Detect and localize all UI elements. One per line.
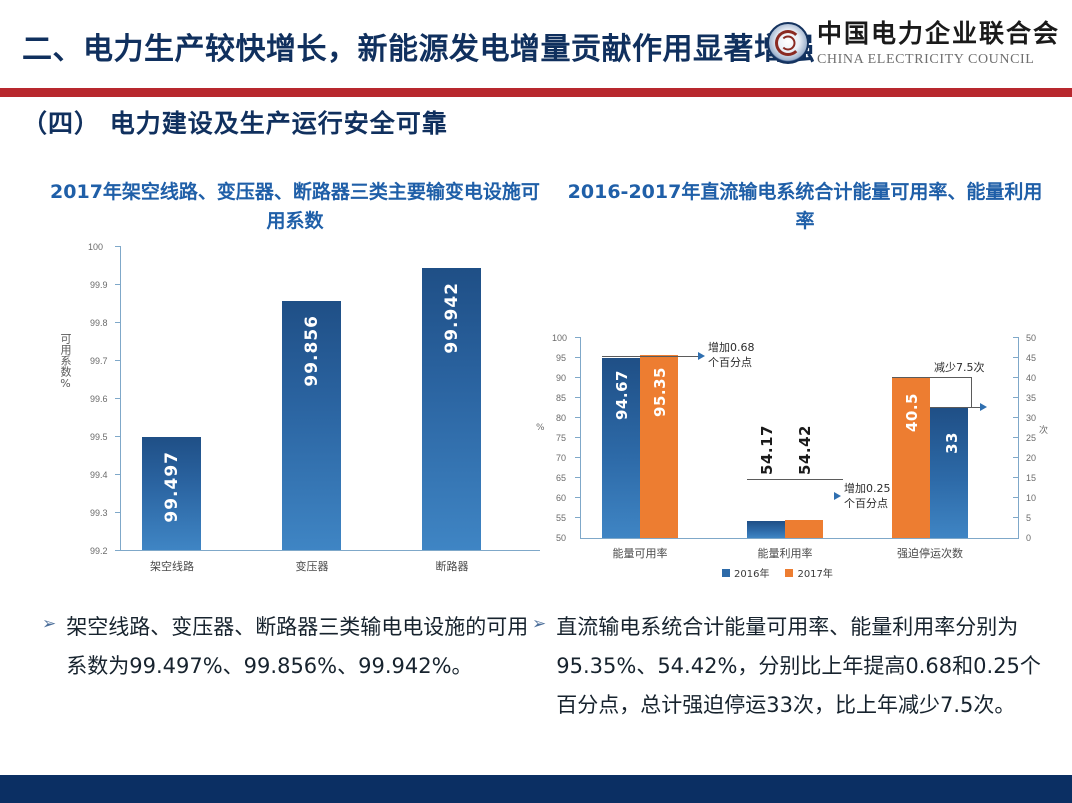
right-g2-bar-2017	[785, 520, 823, 538]
right-annot-3-arrow-icon	[980, 403, 987, 411]
right-chart-legend: 2016年 2017年	[722, 565, 833, 580]
right-annotation-1: 增加0.68 个百分点	[708, 341, 755, 371]
left-ytick-2: 99.8	[90, 318, 108, 328]
left-chart-y-axis	[120, 246, 121, 551]
right-right-ytick-7: 15	[1026, 473, 1036, 483]
left-category-1: 变压器	[272, 558, 352, 574]
right-g3-bar-2017-value: 33	[943, 432, 961, 454]
right-bar-chart: % 次 100 95 90 85 80 75 70 65 60 55 50 50…	[534, 325, 1054, 580]
right-right-tickmark	[1013, 497, 1018, 498]
legend-swatch-2017	[785, 569, 793, 577]
section-title: （四） 电力建设及生产运行安全可靠	[22, 104, 448, 140]
right-annotation-1-line1: 增加0.68	[708, 341, 755, 356]
right-category-0: 能量可用率	[590, 545, 690, 561]
right-right-ytick-6: 20	[1026, 453, 1036, 463]
legend-item-2016[interactable]: 2016年	[722, 565, 769, 580]
right-right-tickmark	[1013, 457, 1018, 458]
header-divider-rule	[0, 88, 1072, 97]
logo-chinese-name: 中国电力企业联合会	[817, 20, 1060, 48]
right-left-tickmark	[575, 457, 580, 458]
left-bar-1-value: 99.856	[302, 315, 322, 387]
right-g1-bar-2017: 95.35	[640, 355, 678, 538]
right-left-tickmark	[575, 357, 580, 358]
right-right-tickmark	[1013, 477, 1018, 478]
left-chart-x-axis	[120, 550, 540, 551]
right-g1-bar-2017-value: 95.35	[651, 367, 669, 417]
slide-header: 二、电力生产较快增长，新能源发电增量贡献作用显著增强 中国电力企业联合会 CHI…	[0, 0, 1072, 92]
right-bullet-block: ➢ 直流输电系统合计能量可用率、能量利用率分别为95.35%、54.42%，分别…	[532, 608, 1052, 725]
bullet-marker-icon: ➢	[532, 608, 546, 725]
right-right-ytick-2: 40	[1026, 373, 1036, 383]
right-left-ytick-4: 80	[556, 413, 566, 423]
slide-root: 二、电力生产较快增长，新能源发电增量贡献作用显著增强 中国电力企业联合会 CHI…	[0, 0, 1072, 803]
right-chart-left-axis-unit: %	[536, 423, 545, 433]
right-bullet-text: 直流输电系统合计能量可用率、能量利用率分别为95.35%、54.42%，分别比上…	[556, 608, 1052, 725]
right-left-ytick-0: 100	[552, 333, 567, 343]
right-right-ytick-1: 45	[1026, 353, 1036, 363]
right-right-ytick-9: 5	[1026, 513, 1031, 523]
right-right-ytick-10: 0	[1026, 533, 1031, 543]
right-annot-2-connector	[747, 479, 843, 480]
left-ytick-7: 99.3	[90, 508, 108, 518]
right-annotation-2-line2: 个百分点	[844, 497, 891, 512]
left-bar-2: 99.942	[422, 268, 481, 550]
right-left-tickmark	[575, 497, 580, 498]
right-right-ytick-4: 30	[1026, 413, 1036, 423]
logo-text-group: 中国电力企业联合会 CHINA ELECTRICITY COUNCIL	[817, 20, 1060, 68]
right-left-ytick-3: 85	[556, 393, 566, 403]
cec-emblem-icon	[767, 22, 809, 64]
right-category-1: 能量利用率	[735, 545, 835, 561]
left-chart-y-axis-label: 可用系数%	[60, 333, 71, 390]
right-chart-y-axis-left	[580, 337, 581, 539]
page-title: 二、电力生产较快增长，新能源发电增量贡献作用显著增强	[22, 24, 815, 68]
right-right-tickmark	[1013, 337, 1018, 338]
left-chart-title: 2017年架空线路、变压器、断路器三类主要输变电设施可用系数	[50, 178, 540, 235]
left-bullet-text: 架空线路、变压器、断路器三类输电电设施的可用系数为99.497%、99.856%…	[66, 608, 542, 686]
right-category-2: 强迫停运次数	[880, 545, 980, 561]
right-left-ytick-5: 75	[556, 433, 566, 443]
left-ytick-0: 100	[88, 242, 103, 252]
right-g1-bar-2016: 94.67	[602, 358, 640, 538]
right-right-tickmark	[1013, 357, 1018, 358]
right-annot-3-connector-top	[892, 377, 972, 378]
legend-item-2017[interactable]: 2017年	[785, 565, 832, 580]
right-left-tickmark	[575, 477, 580, 478]
right-chart-title: 2016-2017年直流输电系统合计能量可用率、能量利用率	[560, 178, 1050, 235]
left-ytick-4: 99.6	[90, 394, 108, 404]
right-annot-3-connector-vert	[971, 377, 972, 407]
right-g3-bar-2016-value: 40.5	[903, 393, 921, 432]
right-left-tickmark	[575, 437, 580, 438]
right-annot-3-connector-arm	[930, 407, 980, 408]
right-left-tickmark	[575, 337, 580, 338]
right-chart-right-axis-unit: 次	[1039, 423, 1048, 436]
right-left-ytick-1: 95	[556, 353, 566, 363]
right-annotation-2-line1: 增加0.25	[844, 482, 891, 497]
left-ytick-8: 99.2	[90, 546, 108, 556]
right-right-tickmark	[1013, 417, 1018, 418]
left-bar-1: 99.856	[282, 301, 341, 550]
left-bullet-block: ➢ 架空线路、变压器、断路器三类输电电设施的可用系数为99.497%、99.85…	[42, 608, 542, 686]
right-right-tickmark	[1013, 517, 1018, 518]
right-annot-1-connector	[602, 356, 698, 357]
right-annot-2-arrow-icon	[834, 492, 841, 500]
left-ytick-5: 99.5	[90, 432, 108, 442]
left-category-2: 断路器	[412, 558, 492, 574]
right-left-ytick-7: 65	[556, 473, 566, 483]
right-left-ytick-6: 70	[556, 453, 566, 463]
right-right-tickmark	[1013, 377, 1018, 378]
right-g2-bar-2016-value: 54.17	[758, 425, 776, 475]
bullet-marker-icon: ➢	[42, 608, 56, 686]
left-bar-chart: 可用系数% 100 99.9 99.8 99.7 99.6 99.5 99.4 …	[60, 238, 540, 583]
legend-label-2017: 2017年	[797, 565, 832, 580]
right-right-tickmark	[1013, 437, 1018, 438]
left-ytick-1: 99.9	[90, 280, 108, 290]
right-g2-bar-2016	[747, 521, 785, 538]
right-chart-y-axis-right	[1018, 337, 1019, 539]
right-right-tickmark	[1013, 397, 1018, 398]
right-left-tickmark	[575, 517, 580, 518]
legend-label-2016: 2016年	[734, 565, 769, 580]
right-annotation-2: 增加0.25 个百分点	[844, 482, 891, 512]
right-g2-bar-2017-value: 54.42	[796, 425, 814, 475]
left-bar-2-value: 99.942	[442, 282, 462, 354]
right-left-tickmark	[575, 397, 580, 398]
logo-english-name: CHINA ELECTRICITY COUNCIL	[817, 52, 1060, 68]
right-left-ytick-10: 50	[556, 533, 566, 543]
left-ytick-6: 99.4	[90, 470, 108, 480]
legend-swatch-2016	[722, 569, 730, 577]
right-annotation-3-line1: 减少7.5次	[934, 361, 985, 376]
right-annotation-1-line2: 个百分点	[708, 356, 755, 371]
right-chart-x-axis	[580, 538, 1019, 539]
right-right-ytick-3: 35	[1026, 393, 1036, 403]
slide-footer-bar	[0, 775, 1072, 803]
right-g3-bar-2016: 40.5	[892, 377, 930, 538]
right-annot-1-arrow-icon	[698, 352, 705, 360]
right-g1-bar-2016-value: 94.67	[613, 370, 631, 420]
right-left-ytick-2: 90	[556, 373, 566, 383]
right-right-ytick-5: 25	[1026, 433, 1036, 443]
right-left-tickmark	[575, 377, 580, 378]
left-bar-0: 99.497	[142, 437, 201, 550]
right-left-tickmark	[575, 417, 580, 418]
organization-logo: 中国电力企业联合会 CHINA ELECTRICITY COUNCIL	[767, 20, 1060, 68]
right-right-ytick-8: 10	[1026, 493, 1036, 503]
right-left-ytick-9: 55	[556, 513, 566, 523]
left-category-0: 架空线路	[132, 558, 212, 574]
left-bar-0-value: 99.497	[162, 451, 182, 523]
right-left-ytick-8: 60	[556, 493, 566, 503]
right-annotation-3: 减少7.5次	[934, 361, 985, 376]
left-ytick-3: 99.7	[90, 356, 108, 366]
right-right-ytick-0: 50	[1026, 333, 1036, 343]
right-g3-bar-2017: 33	[930, 408, 968, 538]
